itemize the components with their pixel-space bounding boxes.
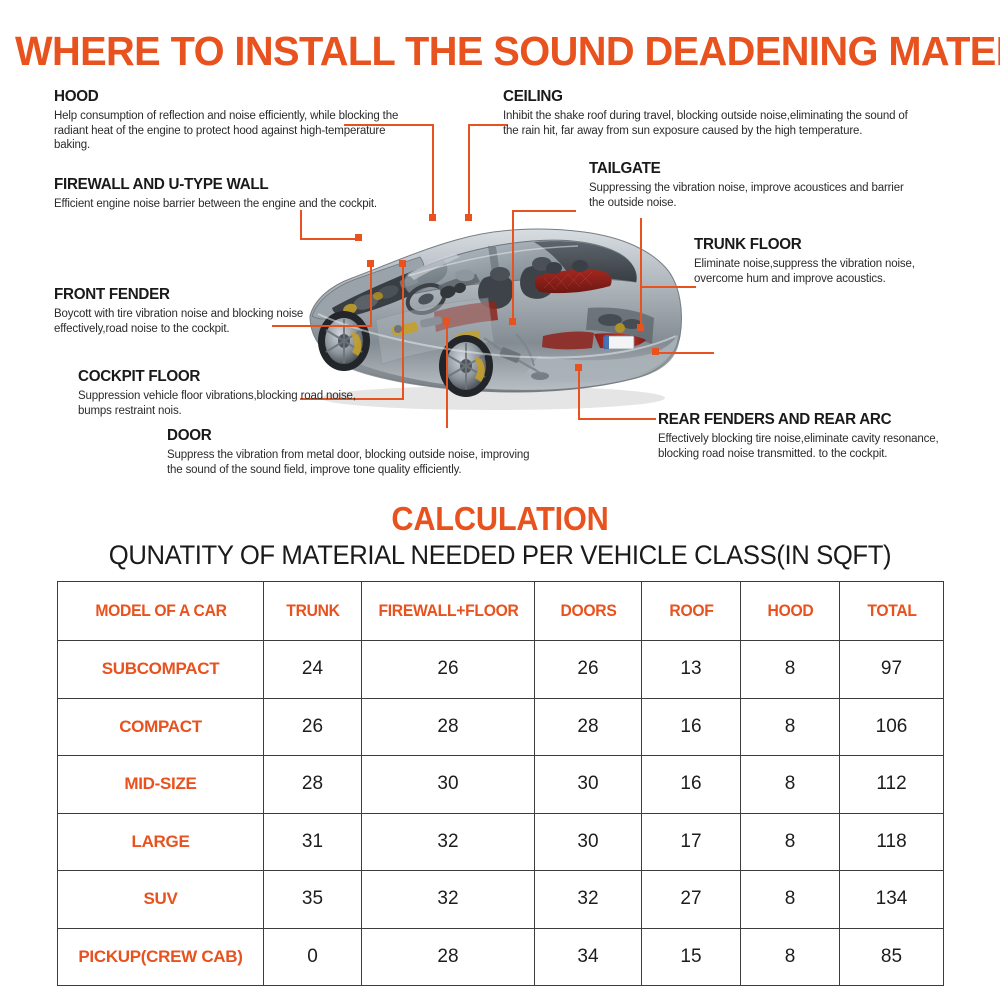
callout-front-fender-body: Boycott with tire vibration noise and bl… (54, 307, 354, 336)
cell-roof: 16 (642, 756, 741, 814)
leader-line-tailgate-v (512, 210, 514, 322)
callout-ceiling: CEILING Inhibit the shake roof during tr… (503, 88, 925, 138)
anchor-door (443, 318, 450, 325)
leader-line-tailgate-h (512, 210, 576, 212)
cell-hood: 8 (741, 641, 840, 699)
cell-firewall-floor: 32 (362, 813, 535, 871)
table-row: SUBCOMPACT 24 26 26 13 8 97 (58, 641, 944, 699)
cell-hood: 8 (741, 756, 840, 814)
cell-firewall-floor: 28 (362, 698, 535, 756)
cell-trunk: 35 (264, 871, 362, 929)
leader-line-trunk-v (640, 218, 642, 288)
table-row: MID-SIZE 28 30 30 16 8 112 (58, 756, 944, 814)
cell-doors: 34 (535, 928, 642, 986)
leader-line-door-v (446, 322, 448, 428)
cell-roof: 16 (642, 698, 741, 756)
cell-firewall-floor: 28 (362, 928, 535, 986)
cell-roof: 13 (642, 641, 741, 699)
callout-tailgate-title: TAILGATE (589, 160, 903, 178)
callout-firewall-body: Efficient engine noise barrier between t… (54, 197, 434, 212)
callout-door-title: DOOR (167, 427, 528, 445)
leader-line-firewall-v (300, 210, 302, 240)
table-header-row: MODEL OF A CAR TRUNK FIREWALL+FLOOR DOOR… (58, 582, 944, 641)
calculation-subheading: QUNATITY OF MATERIAL NEEDED PER VEHICLE … (25, 540, 975, 571)
callout-rear-fenders-body: Effectively blocking tire noise,eliminat… (658, 432, 968, 461)
leader-line-cockpit-v (402, 264, 404, 400)
callout-firewall: FIREWALL AND U-TYPE WALL Efficient engin… (54, 176, 434, 212)
leader-line-rearfender2-h (578, 418, 656, 420)
cell-total: 134 (840, 871, 944, 929)
page-title: WHERE TO INSTALL THE SOUND DEADENING MAT… (15, 28, 985, 75)
col-header-model: MODEL OF A CAR (63, 582, 259, 641)
cell-total: 97 (840, 641, 944, 699)
table-row: LARGE 31 32 30 17 8 118 (58, 813, 944, 871)
anchor-tailgate (509, 318, 516, 325)
callout-hood-body: Help consumption of reflection and noise… (54, 109, 414, 153)
callout-trunk-floor-title: TRUNK FLOOR (694, 236, 951, 254)
leader-line-rearfender2-v (578, 368, 580, 420)
col-header-hood: HOOD (743, 582, 837, 641)
cell-hood: 8 (741, 928, 840, 986)
cell-firewall-floor: 26 (362, 641, 535, 699)
cell-model: MID-SIZE (58, 756, 264, 814)
anchor-firewall (355, 234, 362, 241)
leader-line-frontfender-v (370, 264, 372, 327)
anchor-rearfender (652, 348, 659, 355)
callout-front-fender-title: FRONT FENDER (54, 286, 339, 304)
callout-hood: HOOD Help consumption of reflection and … (54, 88, 414, 153)
callout-cockpit-floor-title: COCKPIT FLOOR (78, 368, 363, 386)
table-row: SUV 35 32 32 27 8 134 (58, 871, 944, 929)
cell-trunk: 28 (264, 756, 362, 814)
cell-total: 106 (840, 698, 944, 756)
cell-roof: 15 (642, 928, 741, 986)
col-header-total: TOTAL (842, 582, 941, 641)
cell-trunk: 26 (264, 698, 362, 756)
col-header-firewall-floor: FIREWALL+FLOOR (366, 582, 530, 641)
cell-firewall-floor: 30 (362, 756, 535, 814)
cell-trunk: 0 (264, 928, 362, 986)
cell-roof: 27 (642, 871, 741, 929)
callout-firewall-title: FIREWALL AND U-TYPE WALL (54, 176, 415, 194)
callout-rear-fenders: REAR FENDERS AND REAR ARC Effectively bl… (658, 411, 968, 461)
leader-line-trunk-v2 (640, 286, 642, 328)
cell-hood: 8 (741, 698, 840, 756)
callout-ceiling-body: Inhibit the shake roof during travel, bl… (503, 109, 925, 138)
cell-doors: 30 (535, 756, 642, 814)
callout-door: DOOR Suppress the vibration from metal d… (167, 427, 547, 477)
cell-trunk: 24 (264, 641, 362, 699)
callout-cockpit-floor-body: Suppression vehicle floor vibrations,blo… (78, 389, 378, 418)
cell-total: 112 (840, 756, 944, 814)
cell-hood: 8 (741, 813, 840, 871)
cell-doors: 30 (535, 813, 642, 871)
cell-total: 85 (840, 928, 944, 986)
cell-firewall-floor: 32 (362, 871, 535, 929)
callout-tailgate-body: Suppressing the vibration noise, improve… (589, 181, 919, 210)
callout-hood-title: HOOD (54, 88, 396, 106)
anchor-ceiling (465, 214, 472, 221)
anchor-cockpit (399, 260, 406, 267)
table-row: COMPACT 26 28 28 16 8 106 (58, 698, 944, 756)
callout-ceiling-title: CEILING (503, 88, 904, 106)
table-body: SUBCOMPACT 24 26 26 13 8 97 COMPACT 26 2… (58, 641, 944, 986)
table-row: PICKUP(CREW CAB) 0 28 34 15 8 85 (58, 928, 944, 986)
material-quantity-table: MODEL OF A CAR TRUNK FIREWALL+FLOOR DOOR… (57, 581, 944, 986)
cell-model: LARGE (58, 813, 264, 871)
callout-trunk-floor: TRUNK FLOOR Eliminate noise,suppress the… (694, 236, 964, 286)
cell-doors: 28 (535, 698, 642, 756)
callout-front-fender: FRONT FENDER Boycott with tire vibration… (54, 286, 354, 336)
leader-line-ceiling-h (468, 124, 508, 126)
cell-model: PICKUP(CREW CAB) (58, 928, 264, 986)
leader-line-ceiling-v (468, 124, 470, 220)
anchor-frontfender (367, 260, 374, 267)
cell-model: SUV (58, 871, 264, 929)
col-header-trunk: TRUNK (266, 582, 359, 641)
cell-model: SUBCOMPACT (58, 641, 264, 699)
leader-line-trunk-h (640, 286, 696, 288)
cell-doors: 26 (535, 641, 642, 699)
cell-trunk: 31 (264, 813, 362, 871)
anchor-rearfender2 (575, 364, 582, 371)
callout-rear-fenders-title: REAR FENDERS AND REAR ARC (658, 411, 953, 429)
leader-line-rearfender-h (658, 352, 714, 354)
leader-line-firewall-h (300, 238, 360, 240)
col-header-doors: DOORS (537, 582, 639, 641)
cell-roof: 17 (642, 813, 741, 871)
cell-total: 118 (840, 813, 944, 871)
infographic-page: WHERE TO INSTALL THE SOUND DEADENING MAT… (0, 0, 1000, 1000)
cell-hood: 8 (741, 871, 840, 929)
calculation-heading: CALCULATION (35, 500, 965, 538)
callout-trunk-floor-body: Eliminate noise,suppress the vibration n… (694, 257, 964, 286)
cell-doors: 32 (535, 871, 642, 929)
callout-cockpit-floor: COCKPIT FLOOR Suppression vehicle floor … (78, 368, 378, 418)
col-header-roof: ROOF (644, 582, 738, 641)
callout-tailgate: TAILGATE Suppressing the vibration noise… (589, 160, 919, 210)
callout-door-body: Suppress the vibration from metal door, … (167, 448, 547, 477)
cell-model: COMPACT (58, 698, 264, 756)
anchor-hood (429, 214, 436, 221)
